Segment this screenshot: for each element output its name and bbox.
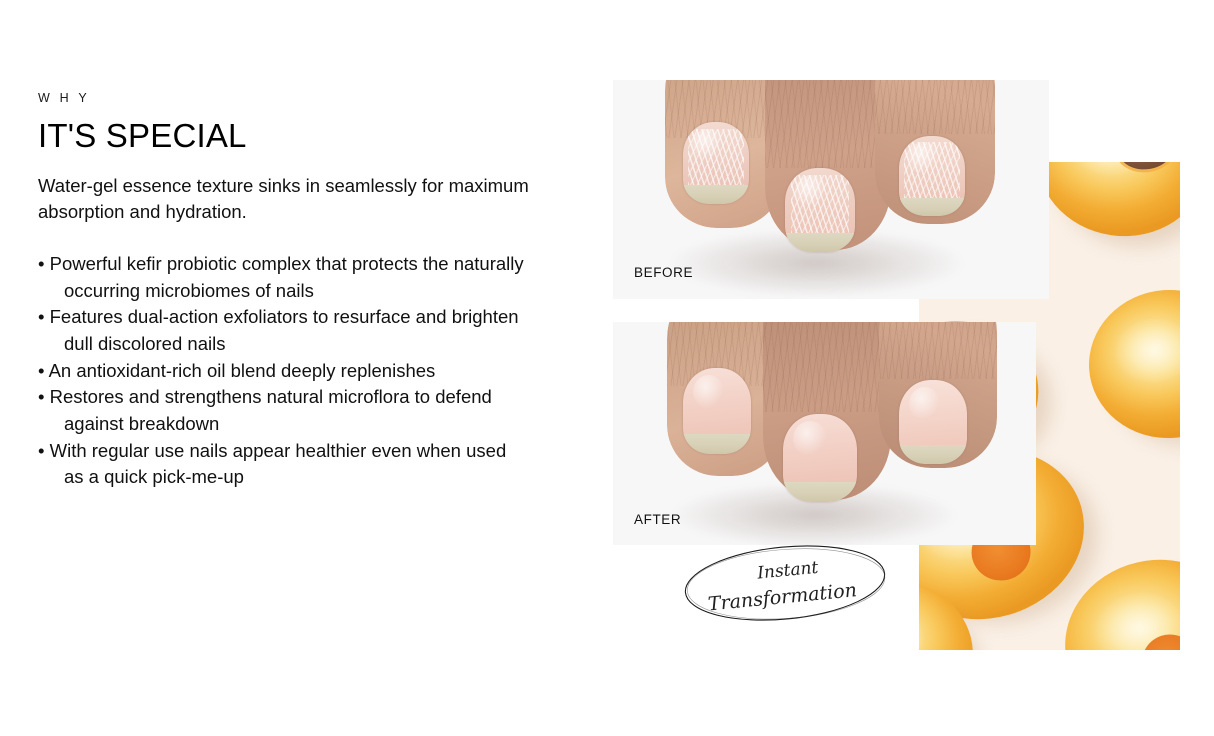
list-item: • Features dual-action exfoliators to re…	[38, 304, 558, 357]
list-item: • An antioxidant-rich oil blend deeply r…	[38, 358, 558, 385]
benefits-list: • Powerful kefir probiotic complex that …	[38, 251, 583, 491]
list-item: • Powerful kefir probiotic complex that …	[38, 251, 558, 304]
nail-right	[899, 380, 967, 464]
bullet-continuation: as a quick pick-me-up	[38, 464, 558, 491]
apricot-half-icon	[1027, 162, 1180, 247]
nail-middle	[783, 414, 857, 502]
intro-paragraph: Water-gel essence texture sinks in seaml…	[38, 173, 558, 226]
text-column: W H Y IT'S SPECIAL Water-gel essence tex…	[38, 92, 583, 491]
after-photo-panel[interactable]: AFTER	[613, 322, 1036, 545]
bullet-lead: • With regular use nails appear healthie…	[38, 438, 558, 465]
bullet-continuation: against breakdown	[38, 411, 558, 438]
after-label: AFTER	[634, 512, 681, 527]
instant-transformation-badge: Instant Transformation	[678, 533, 893, 633]
list-item: • With regular use nails appear healthie…	[38, 438, 558, 491]
bullet-continuation: occurring microbiomes of nails	[38, 278, 558, 305]
nail-right	[899, 136, 965, 216]
bullet-lead: • An antioxidant-rich oil blend deeply r…	[38, 358, 558, 385]
page-title: IT'S SPECIAL	[38, 118, 583, 155]
bullet-lead: • Features dual-action exfoliators to re…	[38, 304, 558, 331]
nail-left	[683, 368, 751, 454]
before-photo-panel[interactable]: BEFORE	[613, 80, 1049, 299]
apricot-half-icon	[1084, 285, 1180, 444]
list-item: • Restores and strengthens natural micro…	[38, 384, 558, 437]
badge-line-1: Instant	[755, 558, 819, 584]
eyebrow-label: W H Y	[38, 92, 583, 106]
bullet-continuation: dull discolored nails	[38, 331, 558, 358]
nail-left	[683, 122, 749, 204]
nail-middle	[785, 168, 855, 252]
bullet-lead: • Powerful kefir probiotic complex that …	[38, 251, 558, 278]
bullet-lead: • Restores and strengthens natural micro…	[38, 384, 558, 411]
before-label: BEFORE	[634, 265, 693, 280]
